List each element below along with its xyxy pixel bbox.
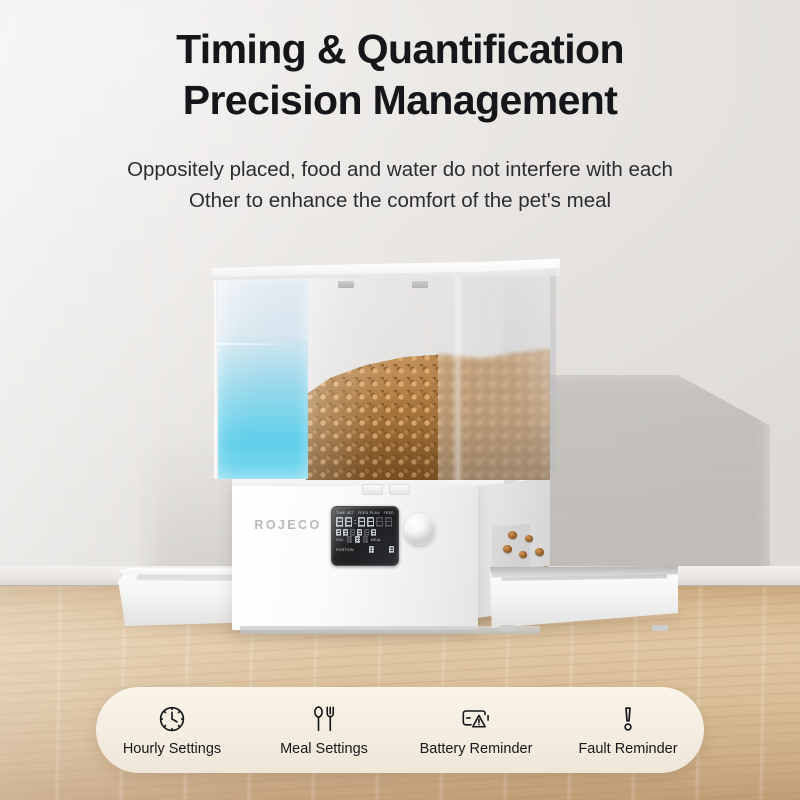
battery-warning-icon	[460, 704, 492, 734]
feature-fault-reminder[interactable]: Fault Reminder	[552, 704, 704, 757]
feature-label: Battery Reminder	[420, 741, 533, 757]
spoon-fork-icon	[309, 704, 339, 734]
hopper-latch[interactable]	[362, 482, 414, 498]
feature-meal-settings[interactable]: Meal Settings	[248, 704, 400, 757]
lcd-segment-digit	[364, 529, 369, 536]
lcd-segment-digit	[389, 546, 394, 553]
feature-battery-reminder[interactable]: Battery Reminder	[400, 704, 552, 757]
lcd-segment-digit	[350, 529, 355, 536]
food-bowl-foot	[500, 625, 516, 631]
lcd-time-digits: :	[336, 517, 394, 527]
lcd-header-row: TIME SET FEED PLAN FEED	[336, 511, 394, 515]
product-marketing-poster: Timing & Quantification Precision Manage…	[0, 0, 800, 800]
lcd-label-feed-plan: FEED PLAN	[358, 511, 380, 515]
lcd-plan-digits	[336, 529, 394, 536]
lcd-segment-digit	[347, 536, 352, 543]
lcd-segment-digit	[343, 529, 348, 536]
lcd-segment-digit	[385, 517, 392, 527]
lcd-portion-row: PORTION	[336, 546, 394, 553]
lcd-display-panel[interactable]: TIME SET FEED PLAN FEED :	[331, 506, 399, 566]
lcd-segment-digit	[363, 536, 368, 543]
latch-tab-left	[362, 484, 383, 495]
lcd-label-portion: PORTION	[336, 548, 354, 552]
feature-hourly-settings[interactable]: Hourly Settings	[96, 704, 248, 757]
lcd-label-vol: VOL	[336, 538, 344, 542]
exclamation-icon	[613, 704, 643, 734]
water-level-line	[216, 343, 308, 345]
lcd-segment-digit	[376, 517, 383, 527]
lid-clip	[412, 281, 428, 288]
falling-kibble	[508, 531, 517, 539]
water-tank-edge	[214, 277, 218, 479]
lcd-segment-digit	[367, 517, 374, 527]
lid-clip	[338, 281, 354, 288]
falling-kibble	[503, 545, 512, 553]
lcd-segment-digit	[336, 529, 341, 536]
control-knob[interactable]	[404, 514, 435, 545]
feature-label: Meal Settings	[280, 741, 368, 757]
falling-kibble	[519, 551, 527, 558]
food-bowl-foot	[652, 625, 668, 631]
lcd-segment-digit	[358, 517, 365, 527]
hopper-highlight-stripe	[452, 272, 464, 480]
lcd-segment-digit	[355, 536, 360, 543]
lcd-segment-digit	[371, 529, 376, 536]
lcd-segment-digit	[336, 517, 343, 527]
falling-kibble	[525, 535, 533, 542]
feature-label: Fault Reminder	[578, 741, 677, 757]
falling-kibble	[535, 548, 544, 556]
pet-feeder-product-photo: ROJECO TIME SET FEED PLAN FEED :	[0, 0, 800, 700]
lcd-segment-digit	[357, 529, 362, 536]
lcd-segment-digit	[369, 546, 374, 553]
water-tank	[216, 277, 308, 479]
lcd-vol-row: VOL MEAL	[336, 536, 394, 543]
latch-tab-right	[389, 484, 410, 495]
food-hopper	[305, 272, 550, 480]
feature-label: Hourly Settings	[123, 741, 221, 757]
lcd-colon: :	[354, 518, 356, 527]
lcd-label-meal: MEAL	[371, 538, 382, 542]
brand-logo: ROJECO	[243, 518, 333, 532]
lcd-label-time-set: TIME SET	[336, 511, 354, 515]
clock-icon	[157, 704, 187, 734]
feature-highlight-bar: Hourly Settings Meal Settings	[96, 687, 704, 773]
lcd-segment-digit	[345, 517, 352, 527]
lcd-label-feed: FEED	[384, 511, 394, 515]
